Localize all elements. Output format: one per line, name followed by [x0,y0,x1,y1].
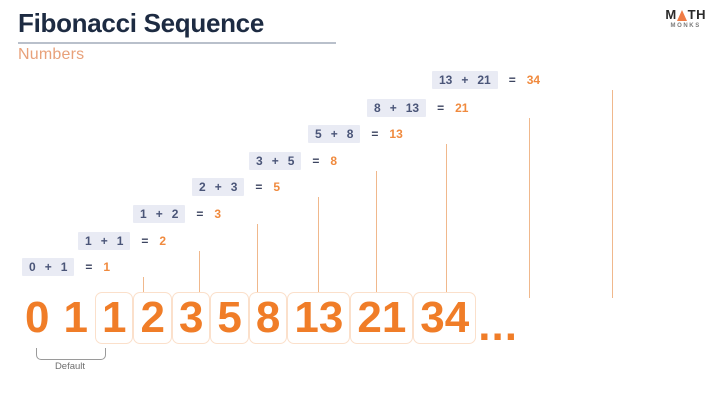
sequence-number: 34 [413,292,476,344]
connector-line [446,144,447,298]
page-title: Fibonacci Sequence [18,8,264,42]
plus-icon: + [101,234,108,248]
sequence-number: 5 [210,292,248,344]
plus-icon: + [390,101,397,115]
logo-tagline: MONKS [665,23,706,29]
operand-a: 2 [199,180,206,194]
operand-box: 2+3 [192,178,244,196]
operand-box: 1+1 [78,232,130,250]
operand-b: 8 [347,127,354,141]
sequence-number: 13 [287,292,350,344]
title-underline [18,42,336,44]
operand-box: 13+21 [432,71,498,89]
operand-b: 1 [117,234,124,248]
operand-a: 13 [439,73,452,87]
equals-icon: = [85,260,92,274]
sequence-number: 1 [95,292,133,344]
connector-line [318,197,319,298]
sequence-ellipsis: ... [476,292,518,344]
operand-box: 3+5 [249,152,301,170]
plus-icon: + [215,180,222,194]
operand-b: 2 [172,207,179,221]
plus-icon: + [272,154,279,168]
equation-row: 13+21=34 [432,71,540,89]
sequence-number: 21 [350,292,413,344]
equals-icon: = [196,207,203,221]
equals-icon: = [509,73,516,87]
slide-canvas: Fibonacci Sequence Numbers M TH MONKS 0+… [0,0,720,401]
operand-box: 5+8 [308,125,360,143]
equals-icon: = [437,101,444,115]
operand-box: 8+13 [367,99,426,117]
sequence-number: 2 [133,292,171,344]
operand-a: 8 [374,101,381,115]
equation-result: 13 [389,127,402,141]
logo-letters-th: TH [688,8,706,21]
connector-line [529,118,530,298]
operand-box: 0+1 [22,258,74,276]
equals-icon: = [371,127,378,141]
equation-result: 3 [214,207,221,221]
connector-line [199,251,200,298]
operand-b: 21 [477,73,490,87]
operand-a: 0 [29,260,36,274]
default-label: Default [36,361,104,372]
equation-result: 21 [455,101,468,115]
operand-b: 3 [231,180,238,194]
equation-result: 2 [159,234,166,248]
sequence-number: 8 [249,292,287,344]
sequence-number: 3 [172,292,210,344]
equals-icon: = [312,154,319,168]
page-subtitle: Numbers [18,46,84,64]
connector-line [257,224,258,298]
equation-row: 1+2=3 [133,205,221,223]
equation-row: 1+1=2 [78,232,166,250]
sequence-number: 0 [18,292,56,344]
plus-icon: + [331,127,338,141]
logo-letter-m: M [665,8,676,21]
operand-a: 3 [256,154,263,168]
equals-icon: = [255,180,262,194]
equation-row: 8+13=21 [367,99,468,117]
triangle-icon [677,10,687,21]
equation-result: 5 [273,180,280,194]
operand-a: 1 [140,207,147,221]
connector-line [612,90,613,298]
plus-icon: + [45,260,52,274]
operand-b: 1 [61,260,68,274]
sequence-row: 0112358132134... [18,292,518,344]
logo-wordmark: M TH [665,8,706,21]
equals-icon: = [141,234,148,248]
brand-logo: M TH MONKS [665,8,706,29]
operand-box: 1+2 [133,205,185,223]
equation-result: 1 [103,260,110,274]
equation-row: 5+8=13 [308,125,403,143]
plus-icon: + [461,73,468,87]
default-bracket [36,348,106,360]
plus-icon: + [156,207,163,221]
equation-row: 0+1=1 [22,258,110,276]
equation-result: 8 [330,154,337,168]
connector-line [376,171,377,298]
equation-row: 2+3=5 [192,178,280,196]
operand-b: 5 [288,154,295,168]
operand-b: 13 [406,101,419,115]
operand-a: 1 [85,234,92,248]
sequence-number: 1 [56,292,94,344]
equation-result: 34 [527,73,540,87]
equation-row: 3+5=8 [249,152,337,170]
operand-a: 5 [315,127,322,141]
